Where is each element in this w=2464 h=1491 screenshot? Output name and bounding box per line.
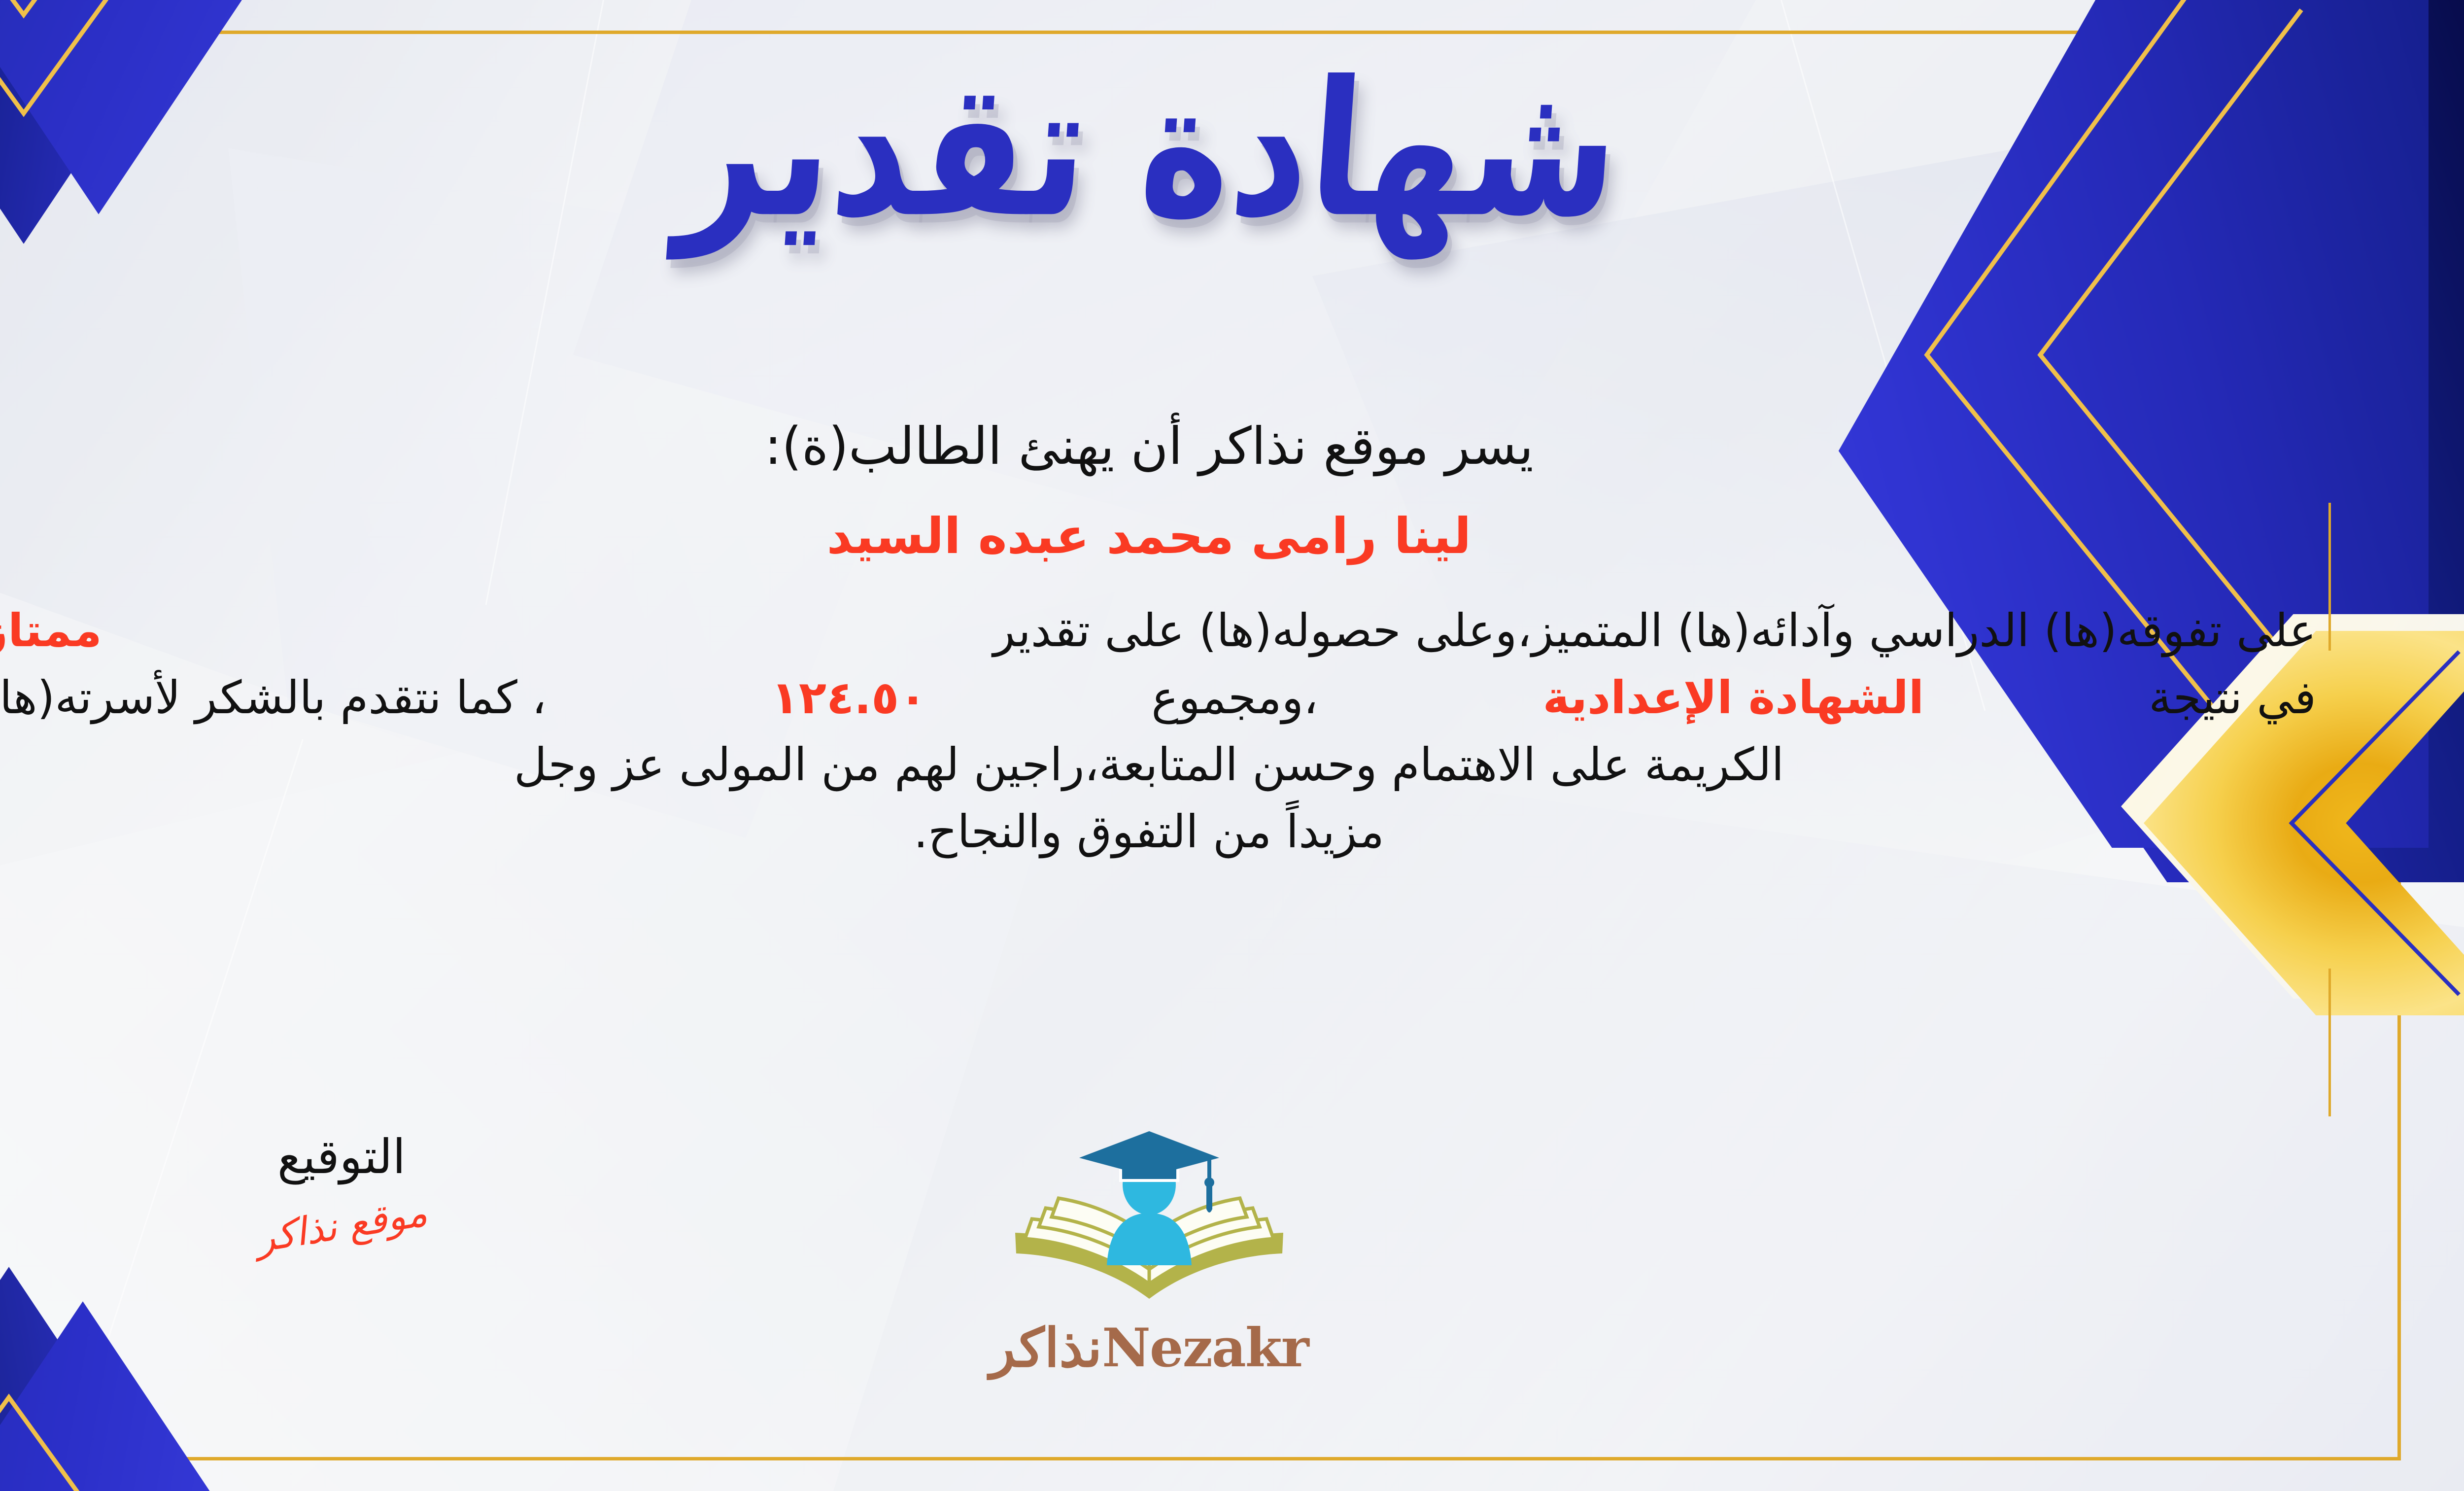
certificate-canvas: شهادة تقدير يسر موقع نذاكر أن يهنئ الطال… (0, 0, 2464, 1491)
total-prefix-text: ،ومجموع (1151, 664, 1318, 731)
signature-mark: موقع نذاكر (253, 1192, 430, 1261)
achievement-line-4: مزيداً من التفوق والنجاح. (0, 798, 2316, 866)
achievement-paragraph: على تفوقه(ها) الدراسي وآدائه(ها) المتميز… (0, 597, 2316, 866)
achievement-line-1: على تفوقه(ها) الدراسي وآدائه(ها) المتميز… (0, 597, 2316, 664)
achievement-line-3-text: الكريمة على الاهتمام وحسن المتابعة،راجين… (514, 731, 1784, 798)
certificate-body: يسر موقع نذاكر أن يهنئ الطالب(ة): لينا ر… (0, 414, 2316, 866)
achievement-line-3: الكريمة على الاهتمام وحسن المتابعة،راجين… (0, 731, 2316, 798)
logo-artwork (987, 1121, 1312, 1318)
achievement-line-1-text: على تفوقه(ها) الدراسي وآدائه(ها) المتميز… (993, 597, 2316, 664)
logo-name-ar: نذاكر (990, 1317, 1102, 1379)
graduate-book-logo-icon (987, 1121, 1312, 1318)
result-prefix-text: في نتيجة (2149, 664, 2316, 731)
signature-block: التوقيع موقع نذاكر (189, 1131, 494, 1247)
thanks-text: ، كما نتقدم بالشكر لأسرته(ها) (0, 664, 547, 731)
signature-label: التوقيع (189, 1131, 494, 1183)
logo-wordmark: Nezakrنذاكر (987, 1321, 1312, 1375)
certificate-type-value: الشهادة الإعدادية (1543, 664, 1924, 731)
certificate-footer: التوقيع موقع نذاكر (0, 1121, 2365, 1417)
logo-name-en: Nezakr (1102, 1317, 1308, 1379)
achievement-line-4-text: مزيداً من التفوق والنجاح. (914, 798, 1384, 866)
brand-logo: Nezakrنذاكر (987, 1121, 1312, 1375)
intro-line: يسر موقع نذاكر أن يهنئ الطالب(ة): (0, 414, 2316, 478)
grade-value: ممتاز (0, 597, 102, 664)
student-name: لينا رامى محمد عبده السيد (0, 507, 2316, 566)
achievement-line-2: في نتيجة الشهادة الإعدادية ،ومجموع ١٢٤.٥… (0, 664, 2316, 731)
total-score-value: ١٢٤.٥٠ (771, 664, 927, 731)
